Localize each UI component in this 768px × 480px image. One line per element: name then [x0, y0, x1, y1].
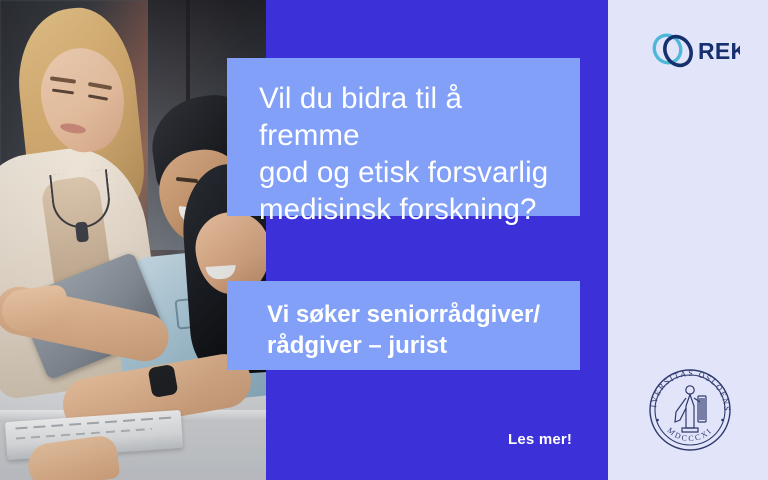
- headline-panel: Vil du bidra til å fremme god og etisk f…: [227, 58, 580, 216]
- photo-smartwatch: [148, 364, 179, 398]
- job-title-text: Vi søker seniorrådgiver/ rådgiver – juri…: [267, 299, 560, 361]
- read-more-link[interactable]: Les mer!: [508, 431, 572, 448]
- rek-wordmark: REK: [698, 38, 740, 64]
- uio-seal-icon: UNIVERSITAS OSLOENSIS MDCCCXI: [642, 362, 738, 458]
- job-advert-banner: REK UNIVERSITAS OSLOENSIS MDCCCXI: [0, 0, 768, 480]
- photo-pendant: [75, 221, 89, 242]
- headline-text: Vil du bidra til å fremme god og etisk f…: [259, 80, 554, 228]
- rek-logo[interactable]: REK: [648, 28, 740, 72]
- rek-rings-icon: [649, 31, 696, 71]
- job-title-panel: Vi søker seniorrådgiver/ rådgiver – juri…: [227, 281, 580, 370]
